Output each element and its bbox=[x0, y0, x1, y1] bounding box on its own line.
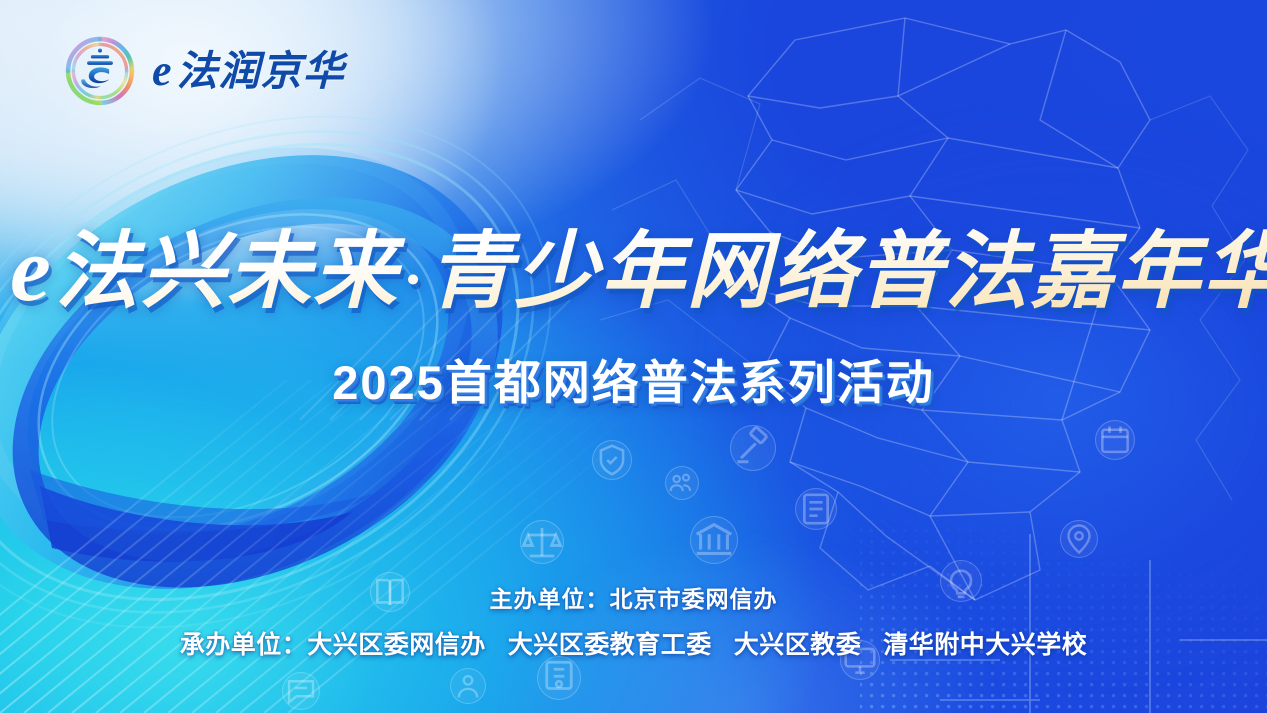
shield-icon bbox=[592, 440, 632, 480]
credits-block: 主办单位：北京市委网信办 承办单位：大兴区委网信办大兴区委教育工委大兴区教委清华… bbox=[0, 580, 1267, 661]
people-group-icon bbox=[665, 466, 699, 500]
title-part-1: 法兴未来 bbox=[55, 226, 399, 319]
main-title-block: e法兴未来·青少年网络普法嘉年华 bbox=[0, 222, 1267, 318]
logo-wordmark-text: 法润京华 bbox=[177, 48, 345, 94]
subtitle-text: 2025首都网络普法系列活动 bbox=[332, 344, 935, 413]
brand-logo-wordmark: e法润京华 bbox=[152, 49, 345, 93]
logo-e-letter: e bbox=[152, 46, 173, 95]
organizer-2: 大兴区委教育工委 bbox=[508, 631, 712, 659]
brand-logo[interactable]: e法润京华 bbox=[62, 33, 345, 109]
subtitle-block: 2025首都网络普法系列活动 bbox=[0, 344, 1267, 413]
organizer-3: 大兴区教委 bbox=[734, 631, 862, 659]
efa-runjinghua-emblem bbox=[62, 33, 138, 109]
title-e-letter: e bbox=[10, 218, 51, 320]
organizer-1: 大兴区委网信办 bbox=[307, 631, 486, 659]
main-title: e法兴未来·青少年网络普法嘉年华 bbox=[0, 222, 1267, 318]
title-part-2: 青少年网络普法嘉年华 bbox=[428, 226, 1267, 319]
title-separator: · bbox=[399, 246, 429, 314]
organizer-line: 承办单位：大兴区委网信办大兴区委教育工委大兴区教委清华附中大兴学校 bbox=[0, 625, 1267, 661]
organizer-label: 承办单位： bbox=[180, 631, 308, 659]
organizer-4: 清华附中大兴学校 bbox=[883, 631, 1087, 659]
poster-canvas: e法润京华 e法兴未来·青少年网络普法嘉年华 2025首都网络普法系列活动 主办… bbox=[0, 0, 1267, 713]
host-organization-line: 主办单位：北京市委网信办 bbox=[0, 580, 1267, 614]
